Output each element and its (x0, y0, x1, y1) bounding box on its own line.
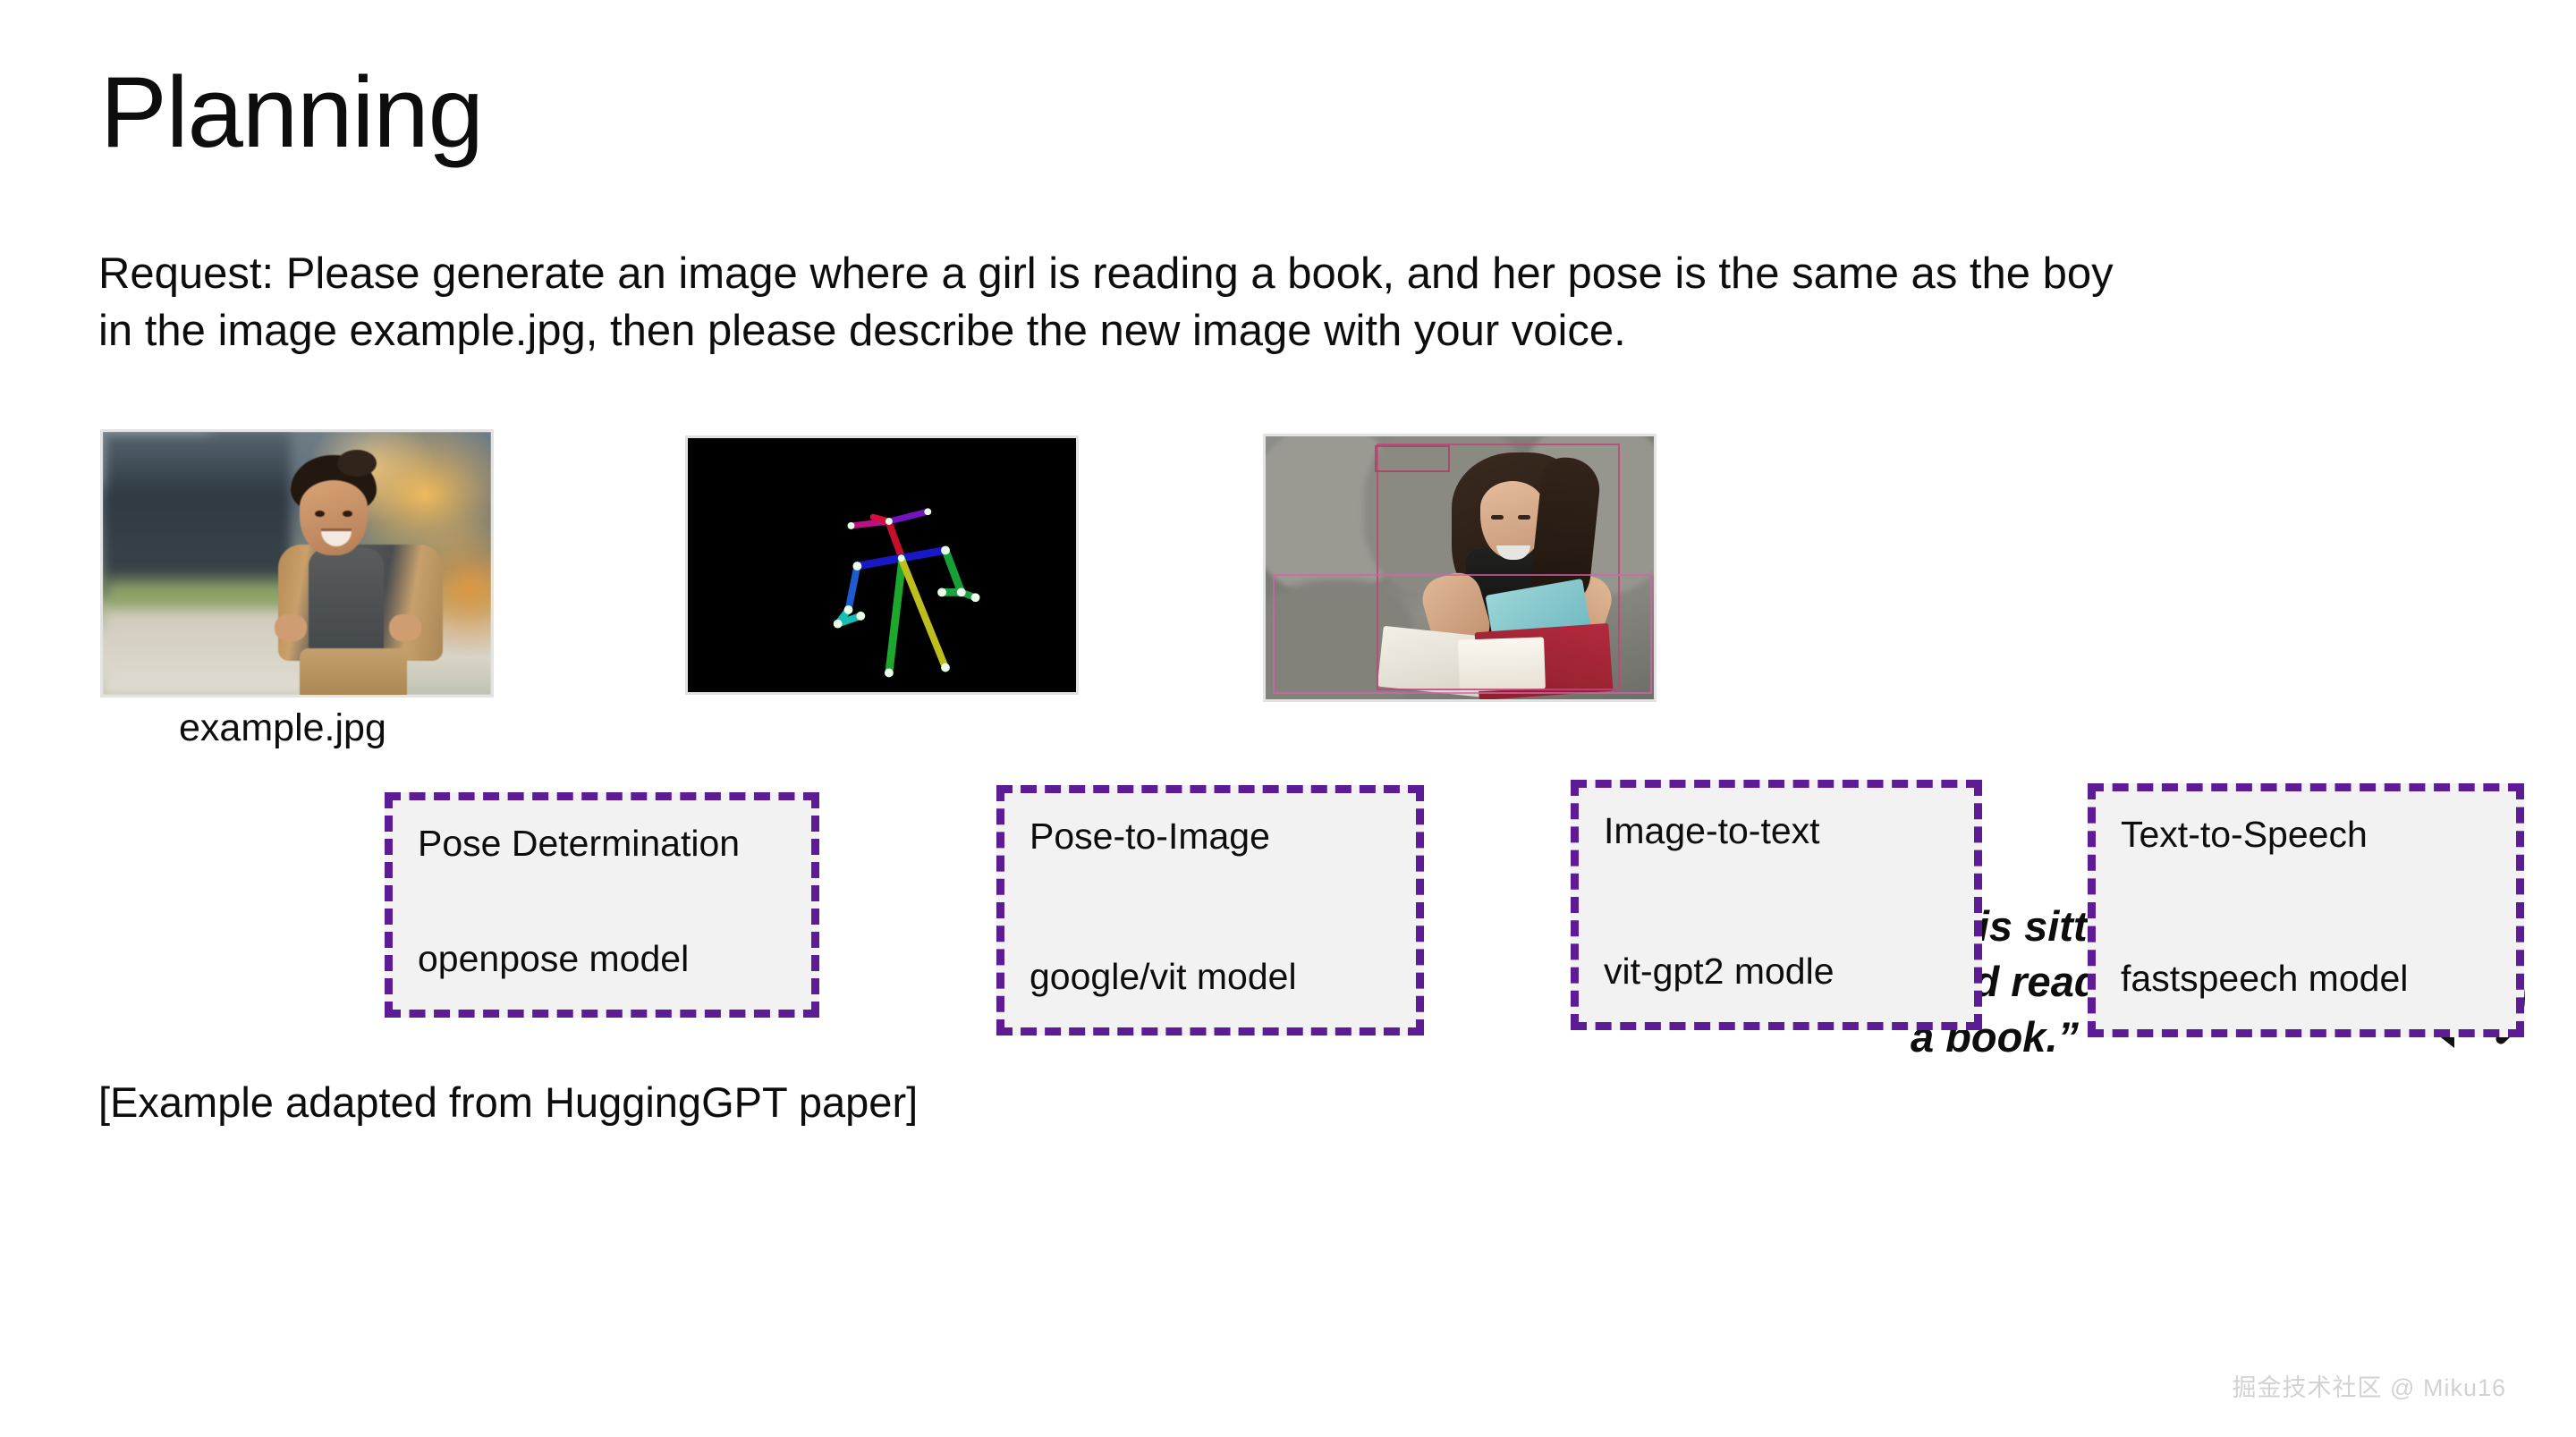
watermark: 掘金技术社区 @ Miku16 (2233, 1368, 2506, 1403)
boy-eye-right (343, 511, 352, 517)
source-footnote: [Example adapted from HuggingGPT paper] (98, 1076, 993, 1129)
boy-eye-left (315, 511, 325, 517)
skeleton-svg (688, 438, 1076, 692)
boy-pants (300, 648, 407, 697)
task-card-image-to-text[interactable]: Image-to-text vit-gpt2 modle (1571, 780, 1982, 1030)
pipeline-row: “A girl is sitting on a bed reading a bo… (0, 429, 2576, 715)
boy-vest (309, 548, 384, 654)
pipeline-stage-generated-image (1263, 434, 1657, 702)
pipeline-stage-pose-skeleton (685, 435, 1079, 695)
photo-house (103, 432, 291, 597)
task-name: Image-to-text (1604, 811, 1949, 851)
girl-reading-photo (1266, 436, 1654, 699)
openpose-skeleton-image (688, 438, 1076, 692)
pipeline-stage-input-image (100, 429, 494, 697)
boy-figure (278, 455, 443, 697)
task-model: openpose model (418, 939, 689, 979)
boy-hand-right (389, 614, 421, 641)
task-model: vit-gpt2 modle (1604, 951, 1835, 992)
detection-box-book (1273, 574, 1652, 694)
task-card-text-to-speech[interactable]: Text-to-Speech fastspeech model (2088, 783, 2524, 1037)
task-card-pose-determination[interactable]: Pose Determination openpose model (385, 792, 819, 1018)
input-image-caption: example.jpg (179, 706, 386, 750)
task-name: Text-to-Speech (2121, 815, 2491, 855)
task-name: Pose Determination (418, 824, 786, 864)
task-model: google/vit model (1030, 957, 1297, 997)
task-name: Pose-to-Image (1030, 816, 1391, 857)
task-card-pose-to-image[interactable]: Pose-to-Image google/vit model (996, 785, 1424, 1035)
boy-scooter-photo (103, 432, 491, 695)
page-title: Planning (100, 63, 483, 163)
detection-box-small (1375, 445, 1450, 472)
task-model: fastspeech model (2121, 959, 2408, 999)
request-paragraph: Request: Please generate an image where … (98, 246, 2138, 359)
boy-hand-left (275, 614, 307, 641)
